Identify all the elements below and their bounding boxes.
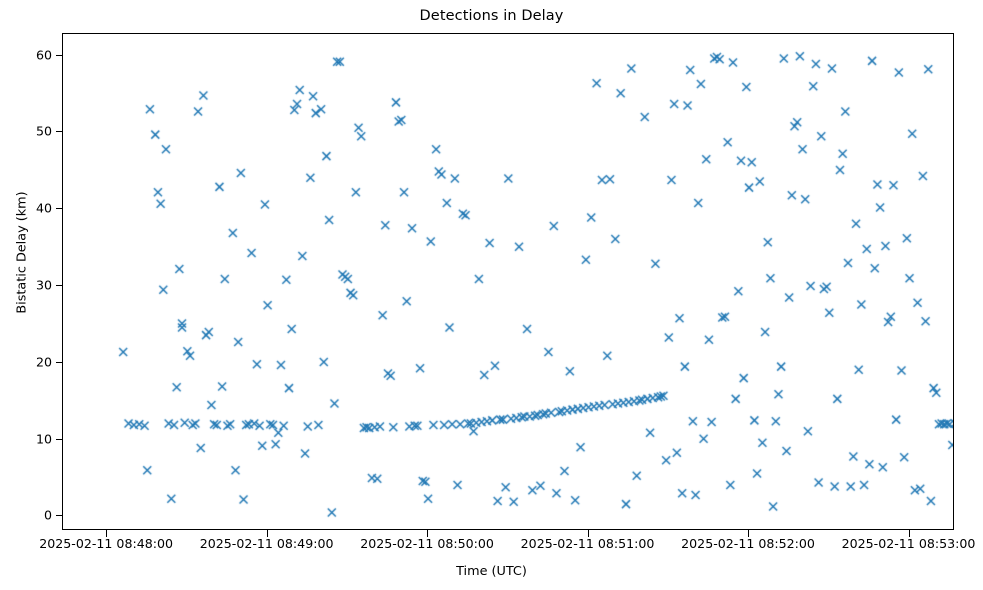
- y-tick-mark: [56, 515, 63, 516]
- y-tick-mark: [56, 131, 63, 132]
- chart-title: Detections in Delay: [0, 8, 983, 24]
- y-tick-mark: [56, 285, 63, 286]
- x-tick-mark: [106, 530, 107, 537]
- x-tick-mark: [588, 530, 589, 537]
- y-tick-mark: [56, 208, 63, 209]
- y-tick-label: 10: [8, 431, 52, 446]
- x-tick-mark: [267, 530, 268, 537]
- y-tick-label: 0: [8, 508, 52, 523]
- y-tick-mark: [56, 55, 63, 56]
- x-axis-label: Time (UTC): [0, 564, 983, 579]
- x-tick-mark: [909, 530, 910, 537]
- x-tick-mark: [427, 530, 428, 537]
- y-tick-label: 60: [8, 47, 52, 62]
- x-tick-label: 2025-02-11 08:53:00: [809, 536, 983, 551]
- y-tick-mark: [56, 362, 63, 363]
- y-axis-label: Bistatic Delay (km): [15, 123, 30, 383]
- x-tick-mark: [748, 530, 749, 537]
- scatter-points-canvas: [63, 34, 954, 530]
- y-tick-mark: [56, 439, 63, 440]
- plot-area: [62, 33, 954, 530]
- matplotlib-figure: Detections in Delay 0102030405060 2025-0…: [0, 0, 983, 590]
